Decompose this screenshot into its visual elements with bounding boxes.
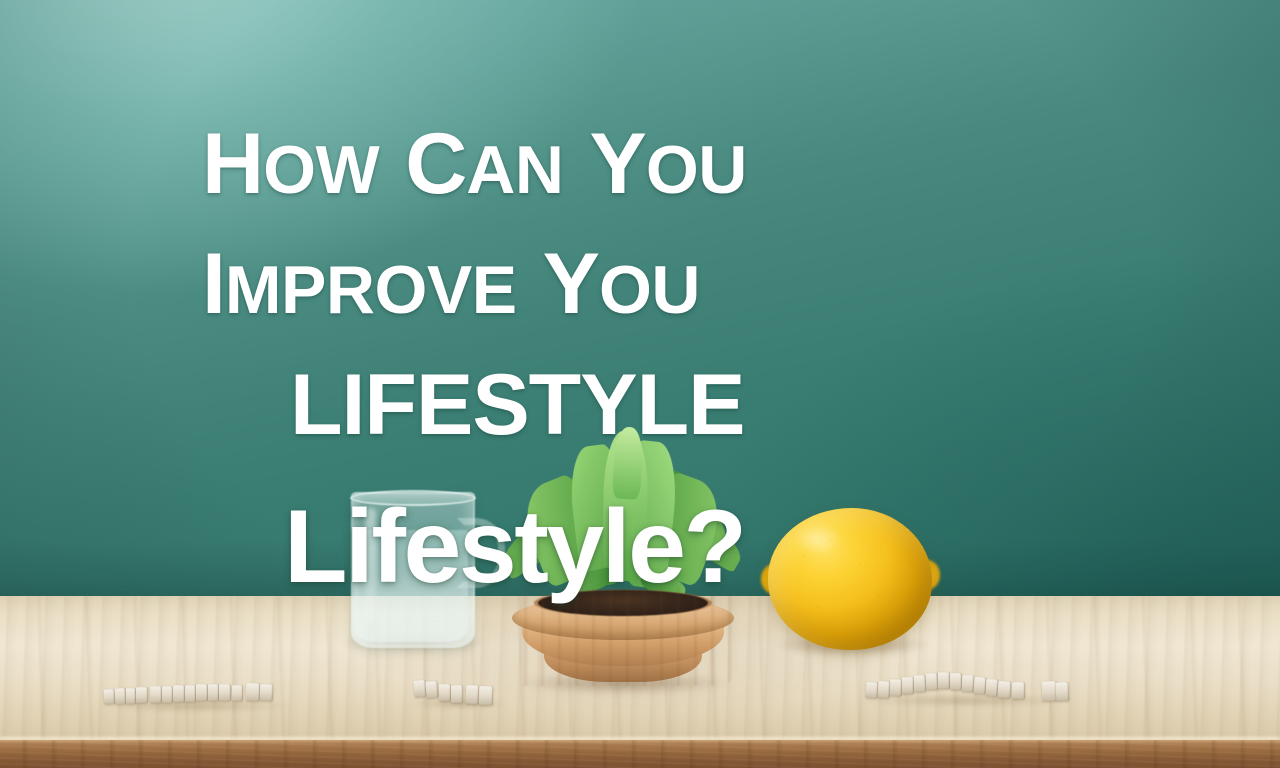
letter-tile [902, 677, 914, 694]
letter-tile [479, 686, 494, 705]
letter-tile [466, 685, 480, 704]
wooden-bowl [512, 588, 734, 686]
banner-image: HOWCANYOU IMPROVEYOU LIFESTYLE Lifestyle… [0, 0, 1280, 768]
letter-tiles-center [414, 674, 504, 708]
letter-tiles-right [866, 668, 1066, 708]
letter-tile [425, 681, 438, 699]
letter-tile [162, 686, 173, 703]
letter-tile [890, 679, 903, 696]
letter-tile [150, 686, 162, 703]
letter-tile [208, 684, 219, 701]
letter-tile [962, 675, 975, 693]
letter-tile [938, 672, 950, 689]
water-glass [345, 492, 477, 650]
letter-tile [104, 689, 116, 705]
lemon-body [768, 508, 932, 650]
tile-shadow [860, 694, 1072, 707]
letter-tile [925, 673, 938, 691]
lemon [768, 508, 932, 656]
letter-tile [136, 687, 148, 703]
letter-tile [451, 685, 463, 703]
letter-tile [877, 681, 890, 699]
letter-tile [185, 685, 196, 702]
letter-tile [173, 685, 185, 702]
letter-tile [914, 675, 927, 693]
glass-highlight [365, 508, 376, 624]
letter-tile [1012, 682, 1025, 699]
table-front-edge [0, 740, 1280, 768]
letter-tile [998, 681, 1012, 699]
letter-tile [973, 677, 986, 695]
potting-soil [538, 590, 708, 616]
letter-tile [115, 688, 127, 705]
letter-tile [196, 684, 208, 701]
letter-tile [232, 685, 243, 701]
letter-tile [439, 684, 451, 701]
lemon-highlight [794, 524, 842, 554]
letter-tile [950, 673, 962, 690]
letter-tiles-left [104, 678, 284, 712]
letter-tile [1056, 682, 1070, 701]
letter-tile [126, 688, 136, 704]
letter-tile [985, 679, 998, 697]
letter-tile [246, 683, 261, 701]
glass-rim [350, 490, 476, 506]
table-edge-grain [0, 740, 1280, 768]
letter-tile [219, 684, 231, 701]
letter-tile [260, 684, 274, 701]
